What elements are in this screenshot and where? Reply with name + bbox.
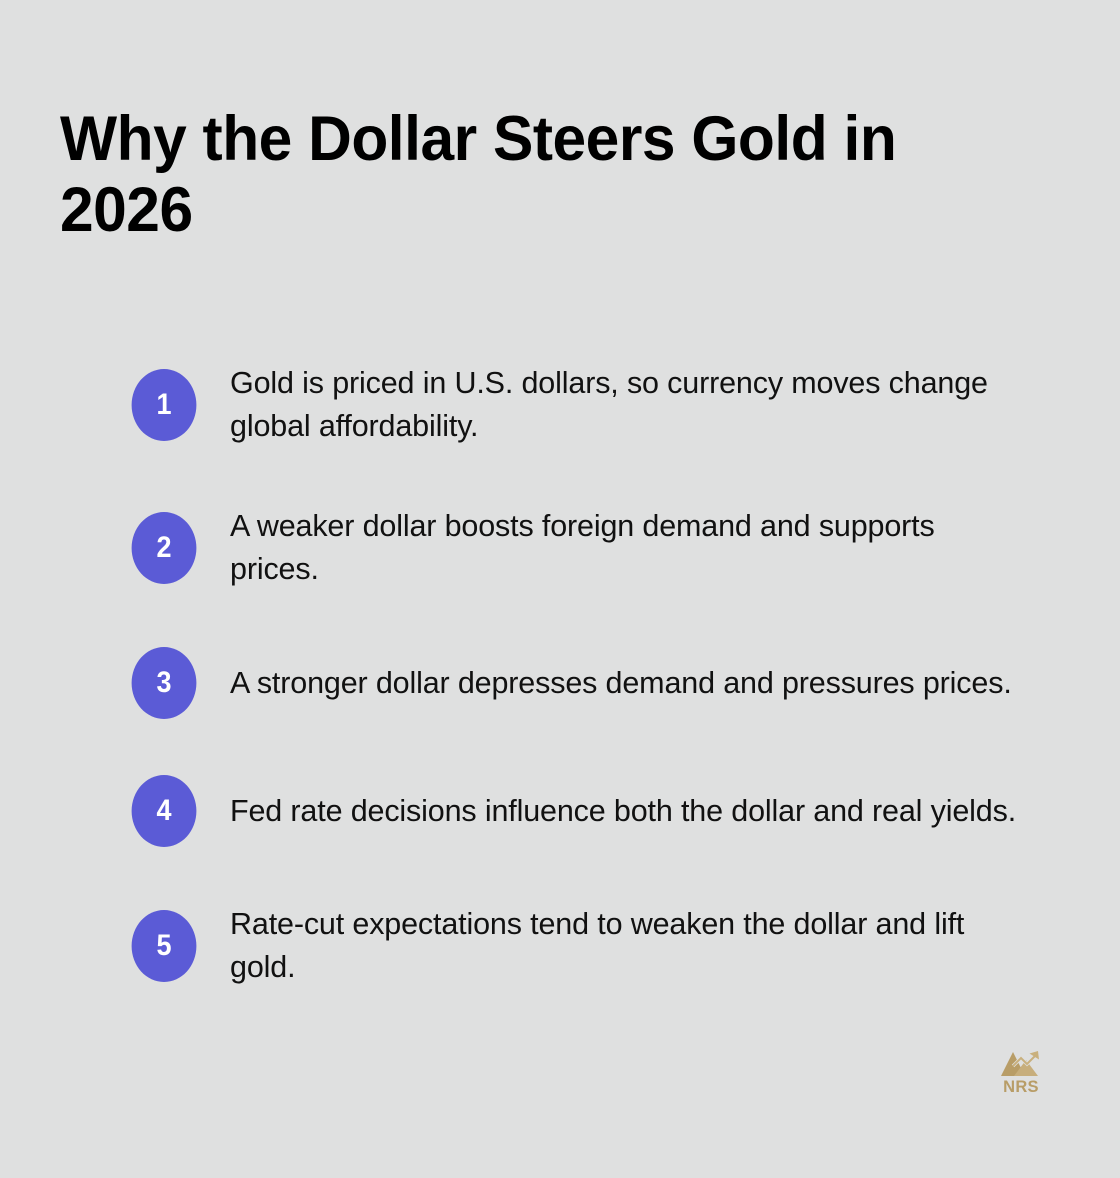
list-number-label: 1 bbox=[156, 390, 171, 420]
list-number-label: 3 bbox=[156, 668, 171, 698]
list-item-text: Gold is priced in U.S. dollars, so curre… bbox=[230, 362, 1030, 449]
infographic-canvas: Why the Dollar Steers Gold in 2026 1 Gol… bbox=[0, 0, 1120, 1178]
numbered-list: 1 Gold is priced in U.S. dollars, so cur… bbox=[128, 362, 1048, 990]
list-item-text: Rate-cut expectations tend to weaken the… bbox=[230, 903, 1030, 990]
page-title: Why the Dollar Steers Gold in 2026 bbox=[60, 104, 982, 245]
list-number-label: 2 bbox=[156, 533, 171, 563]
list-item: 2 A weaker dollar boosts foreign demand … bbox=[128, 505, 1048, 592]
list-item-text: A stronger dollar depresses demand and p… bbox=[230, 662, 1012, 705]
list-item: 4 Fed rate decisions influence both the … bbox=[128, 775, 1048, 847]
list-number-badge: 2 bbox=[132, 512, 197, 584]
list-number-badge: 1 bbox=[132, 369, 197, 441]
mountain-uptrend-arrow-icon bbox=[999, 1050, 1043, 1078]
list-number-badge: 3 bbox=[132, 647, 197, 719]
brand-logo: NRS bbox=[997, 1050, 1045, 1096]
list-number-badge: 4 bbox=[132, 775, 197, 847]
list-item: 3 A stronger dollar depresses demand and… bbox=[128, 647, 1048, 719]
list-number-label: 4 bbox=[156, 796, 171, 826]
list-item-text: Fed rate decisions influence both the do… bbox=[230, 790, 1016, 833]
list-number-label: 5 bbox=[156, 931, 171, 961]
list-item: 5 Rate-cut expectations tend to weaken t… bbox=[128, 903, 1048, 990]
list-item: 1 Gold is priced in U.S. dollars, so cur… bbox=[128, 362, 1048, 449]
list-item-text: A weaker dollar boosts foreign demand an… bbox=[230, 505, 1030, 592]
list-number-badge: 5 bbox=[132, 910, 197, 982]
brand-logo-text: NRS bbox=[1003, 1079, 1039, 1096]
title-block: Why the Dollar Steers Gold in 2026 bbox=[60, 104, 1020, 245]
